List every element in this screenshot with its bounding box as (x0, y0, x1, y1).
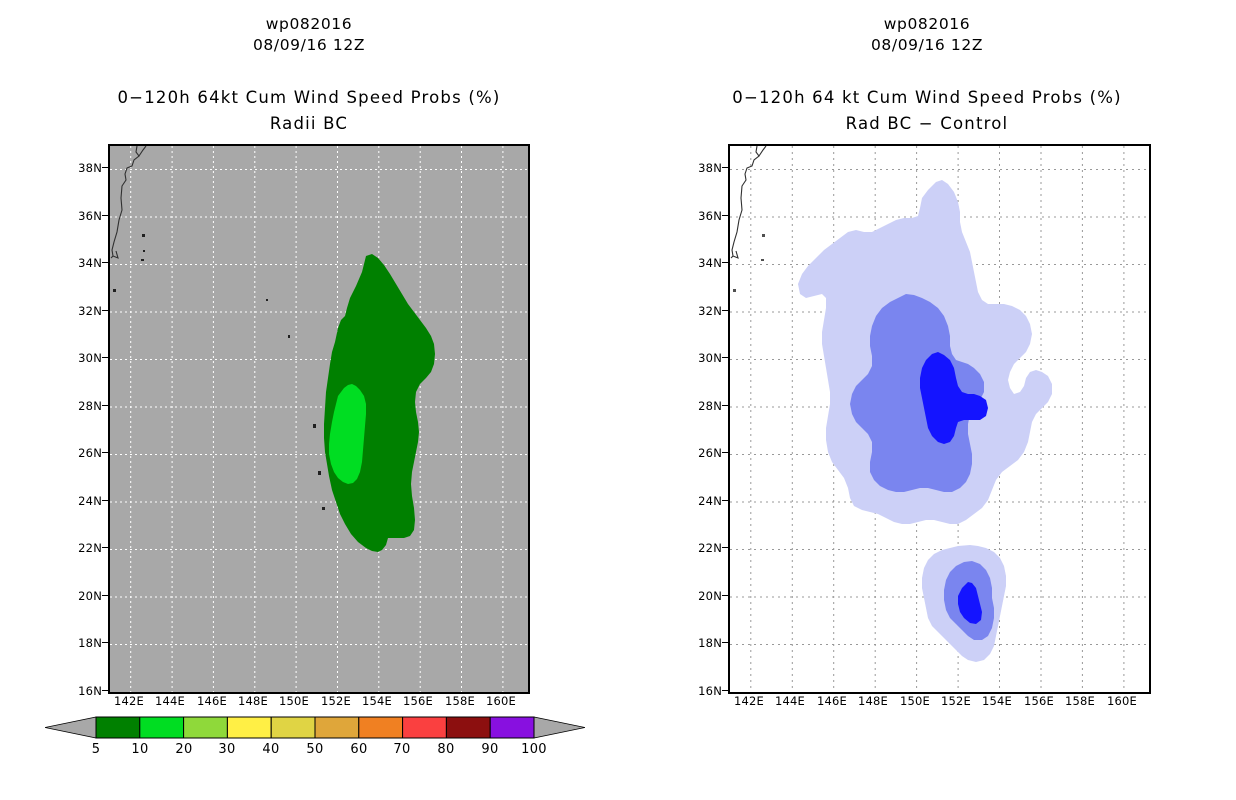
left-subtitle-text: Radii BC (0, 112, 618, 136)
right-subtitle-text: Rad BC − Control (618, 112, 1236, 136)
right-storm-id: wp082016 (618, 14, 1236, 35)
ytick-label-18N: 18N (62, 636, 102, 650)
left-storm-id: wp082016 (0, 14, 618, 35)
colorbar-tick-80: 80 (426, 742, 466, 757)
ytick-label-right-22N: 22N (682, 541, 722, 555)
xtick-label-right-144E: 144E (770, 694, 810, 708)
xtick-label-160E: 160E (481, 694, 521, 708)
ytick-mark-36N (102, 215, 108, 216)
islands-left (113, 234, 337, 510)
colorbar-tick-30: 30 (207, 742, 247, 757)
xtick-label-158E: 158E (440, 694, 480, 708)
xtick-label-right-160E: 160E (1102, 694, 1142, 708)
colorbar-tick-5: 5 (76, 742, 116, 757)
right-subtitle: Rad BC − Control (618, 112, 1236, 136)
xtick-label-156E: 156E (398, 694, 438, 708)
ytick-label-28N: 28N (62, 399, 102, 413)
map-plot-area-left[interactable] (108, 144, 530, 694)
ytick-mark-right-18N (722, 642, 728, 643)
ytick-label-16N: 16N (62, 684, 102, 698)
ytick-mark-26N (102, 452, 108, 453)
ytick-label-38N: 38N (62, 161, 102, 175)
ytick-mark-right-26N (722, 452, 728, 453)
xtick-label-right-142E: 142E (729, 694, 769, 708)
ytick-label-right-38N: 38N (682, 161, 722, 175)
colorbar-cap-low-left (45, 717, 96, 738)
map-svg-left (110, 146, 528, 692)
xtick-label-146E: 146E (192, 694, 232, 708)
colorbar-tick-20: 20 (164, 742, 204, 757)
xtick-label-right-150E: 150E (895, 694, 935, 708)
left-title-text: 0−120h 64kt Cum Wind Speed Probs (%) (0, 86, 618, 110)
ytick-mark-right-16N (722, 690, 728, 691)
ytick-label-right-26N: 26N (682, 446, 722, 460)
colorbar-tick-40: 40 (251, 742, 291, 757)
colorbar-cap-high-left (534, 717, 585, 738)
ytick-label-26N: 26N (62, 446, 102, 460)
colorbar-left[interactable]: 5 10 20 30 40 50 60 70 80 90 100 (45, 712, 585, 772)
right-storm-id-title: wp082016 (618, 14, 1236, 35)
colorbar-tick-10: 10 (120, 742, 160, 757)
map-plot-area-right[interactable] (728, 144, 1151, 694)
xtick-label-144E: 144E (150, 694, 190, 708)
ytick-label-36N: 36N (62, 209, 102, 223)
ytick-mark-30N (102, 357, 108, 358)
left-datetime-title: 08/09/16 12Z (0, 35, 618, 56)
xtick-label-right-148E: 148E (853, 694, 893, 708)
gridlines-left (110, 146, 528, 692)
ytick-mark-right-36N (722, 215, 728, 216)
ytick-label-22N: 22N (62, 541, 102, 555)
xtick-label-142E: 142E (109, 694, 149, 708)
xtick-label-150E: 150E (274, 694, 314, 708)
ytick-label-right-16N: 16N (682, 684, 722, 698)
colorbar-tick-100: 100 (514, 742, 554, 757)
ytick-mark-28N (102, 405, 108, 406)
ytick-mark-32N (102, 310, 108, 311)
panel-rad-bc-control: wp082016 08/09/16 12Z 0−120h 64 kt Cum W… (618, 0, 1236, 800)
right-datetime-title: 08/09/16 12Z (618, 35, 1236, 56)
colorbar-tick-90: 90 (470, 742, 510, 757)
xtick-label-right-156E: 156E (1019, 694, 1059, 708)
ytick-mark-right-20N (722, 595, 728, 596)
colorbar-svg-left (45, 712, 585, 744)
ytick-label-right-18N: 18N (682, 636, 722, 650)
ytick-label-right-32N: 32N (682, 304, 722, 318)
ytick-mark-38N (102, 167, 108, 168)
left-storm-id-title: wp082016 (0, 14, 618, 35)
colorbar-tick-70: 70 (382, 742, 422, 757)
map-svg-right (730, 146, 1149, 692)
coastline-left (111, 146, 146, 258)
xtick-label-154E: 154E (357, 694, 397, 708)
ytick-label-right-28N: 28N (682, 399, 722, 413)
right-datetime: 08/09/16 12Z (618, 35, 1236, 56)
ytick-mark-22N (102, 547, 108, 548)
coastline-right (731, 146, 766, 258)
colorbar-tick-50: 50 (295, 742, 335, 757)
right-main-title: 0−120h 64 kt Cum Wind Speed Probs (%) (618, 86, 1236, 110)
ytick-label-right-30N: 30N (682, 351, 722, 365)
ytick-mark-18N (102, 642, 108, 643)
xtick-label-right-154E: 154E (977, 694, 1017, 708)
left-subtitle: Radii BC (0, 112, 618, 136)
ytick-label-34N: 34N (62, 256, 102, 270)
ytick-mark-34N (102, 262, 108, 263)
ytick-label-24N: 24N (62, 494, 102, 508)
ytick-mark-right-32N (722, 310, 728, 311)
ytick-label-right-36N: 36N (682, 209, 722, 223)
ytick-label-30N: 30N (62, 351, 102, 365)
ytick-mark-right-30N (722, 357, 728, 358)
right-title-text: 0−120h 64 kt Cum Wind Speed Probs (%) (618, 86, 1236, 110)
ytick-mark-20N (102, 595, 108, 596)
ytick-mark-right-24N (722, 500, 728, 501)
ytick-mark-right-22N (722, 547, 728, 548)
ytick-mark-right-38N (722, 167, 728, 168)
xtick-label-152E: 152E (316, 694, 356, 708)
xtick-label-right-158E: 158E (1060, 694, 1100, 708)
left-datetime: 08/09/16 12Z (0, 35, 618, 56)
ytick-label-right-34N: 34N (682, 256, 722, 270)
colorbar-tick-60: 60 (339, 742, 379, 757)
panel-radii-bc: wp082016 08/09/16 12Z 0−120h 64kt Cum Wi… (0, 0, 618, 800)
ytick-mark-24N (102, 500, 108, 501)
ytick-label-right-20N: 20N (682, 589, 722, 603)
ytick-label-20N: 20N (62, 589, 102, 603)
xtick-label-right-152E: 152E (936, 694, 976, 708)
ytick-mark-right-28N (722, 405, 728, 406)
ytick-label-right-24N: 24N (682, 494, 722, 508)
xtick-label-148E: 148E (233, 694, 273, 708)
ytick-mark-16N (102, 690, 108, 691)
ytick-mark-right-34N (722, 262, 728, 263)
xtick-label-right-146E: 146E (812, 694, 852, 708)
ytick-label-32N: 32N (62, 304, 102, 318)
left-main-title: 0−120h 64kt Cum Wind Speed Probs (%) (0, 86, 618, 110)
